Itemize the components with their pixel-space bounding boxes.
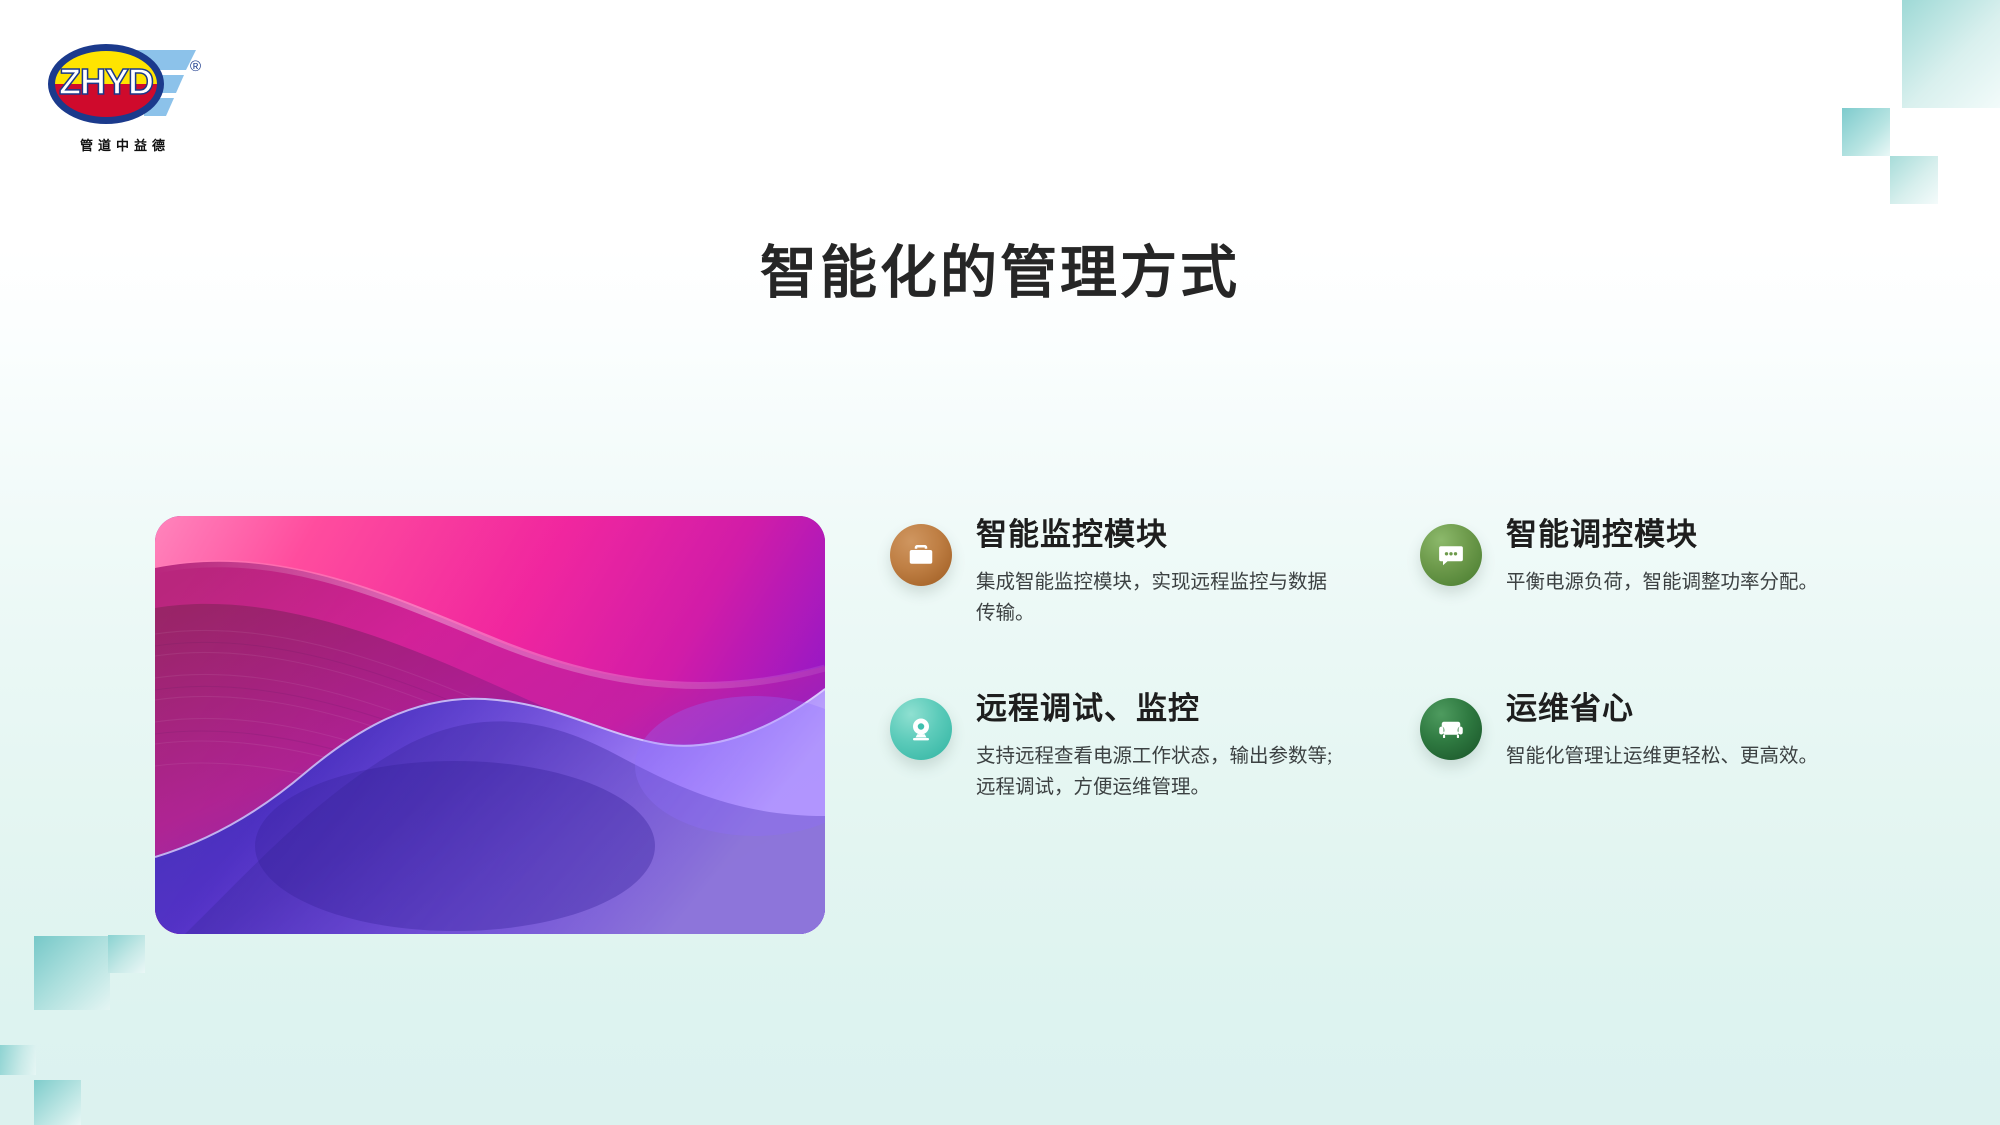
company-logo: ZHYD ® 管道中益德 [44,36,214,161]
logo-wordmark: ZHYD [50,64,162,100]
feature-description: 平衡电源负荷，智能调整功率分配。 [1506,567,1876,599]
decor-square-bottom-left-4 [34,1080,81,1125]
feature-item-intelligent-regulation-module[interactable]: 智能调控模块 平衡电源负荷，智能调整功率分配。 [1420,516,1920,630]
feature-description: 智能化管理让运维更轻松、更高效。 [1506,741,1876,773]
registered-trademark-icon: ® [190,58,201,75]
feature-description: 支持远程查看电源工作状态，输出参数等;远程调试，方便运维管理。 [976,741,1346,804]
slide-canvas: ZHYD ® 管道中益德 智能化的管理方式 [0,0,2000,1125]
decor-square-top-right-3 [1890,156,1938,204]
decor-square-bottom-left-1 [34,936,110,1010]
decor-square-top-right-1 [1902,0,2000,108]
feature-grid: 智能监控模块 集成智能监控模块，实现远程监控与数据传输。 智能调控模块 平衡电源… [890,516,1920,804]
chat-bubble-icon [1420,524,1482,586]
feature-text-block: 远程调试、监控 支持远程查看电源工作状态，输出参数等;远程调试，方便运维管理。 [976,690,1390,804]
chat-bubble-glyph [1436,540,1466,570]
logo-chinese-name: 管道中益德 [50,135,200,154]
briefcase-glyph [906,540,936,570]
feature-item-intelligent-monitoring-module[interactable]: 智能监控模块 集成智能监控模块，实现远程监控与数据传输。 [890,516,1390,630]
decor-square-bottom-left-3 [0,1045,36,1075]
webcam-glyph [906,714,936,744]
feature-text-block: 智能监控模块 集成智能监控模块，实现远程监控与数据传输。 [976,516,1390,630]
feature-item-remote-debug-monitoring[interactable]: 远程调试、监控 支持远程查看电源工作状态，输出参数等;远程调试，方便运维管理。 [890,690,1390,804]
feature-title: 运维省心 [1506,690,1920,729]
armchair-glyph [1436,714,1466,744]
decor-square-bottom-left-2 [108,935,145,973]
feature-title: 智能监控模块 [976,516,1390,555]
hero-image [155,516,825,934]
webcam-icon [890,698,952,760]
feature-text-block: 运维省心 智能化管理让运维更轻松、更高效。 [1506,690,1920,772]
decor-square-top-right-2 [1842,108,1890,156]
page-title: 智能化的管理方式 [0,227,2000,309]
briefcase-icon [890,524,952,586]
armchair-icon [1420,698,1482,760]
feature-title: 智能调控模块 [1506,516,1920,555]
abstract-gradient-wave-graphic [155,516,825,934]
feature-item-worry-free-operations[interactable]: 运维省心 智能化管理让运维更轻松、更高效。 [1420,690,1920,804]
feature-title: 远程调试、监控 [976,690,1390,729]
feature-description: 集成智能监控模块，实现远程监控与数据传输。 [976,567,1346,630]
feature-text-block: 智能调控模块 平衡电源负荷，智能调整功率分配。 [1506,516,1920,598]
